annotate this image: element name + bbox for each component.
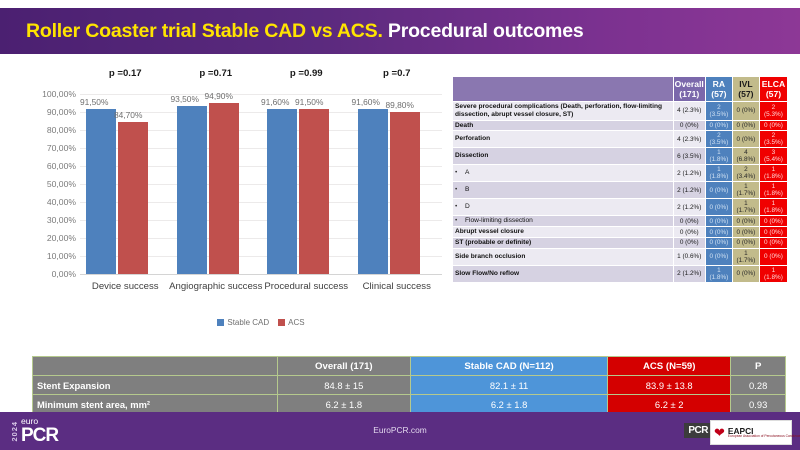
bullet-icon: • — [455, 217, 465, 225]
column-header-elca-line2: (57) — [761, 89, 786, 99]
table-row: Perforation4 (2.3%)2 (3.5%)0 (0%)2 (3.5%… — [453, 131, 788, 148]
column-header-overall: Overall (171) — [673, 77, 705, 102]
chart-bars-region: 91,50%84,70%93,50%94,90%91,60%91,50%91,6… — [80, 94, 442, 275]
cell-ivl: 0 (0%) — [732, 265, 759, 282]
cell-overall: 1 (0.6%) — [673, 248, 705, 265]
bar-group: 93,50%94,90% — [171, 94, 262, 274]
cell-overall: 4 (2.3%) — [673, 131, 705, 148]
footer-bar: 2024 euro PCR EuroPCR.com PCR ❤ EAPCI Eu… — [0, 412, 800, 450]
bar-group: 91,60%89,80% — [352, 94, 443, 274]
complications-table-body: Severe procedural complications (Death, … — [453, 102, 788, 283]
cell-elca: 0 (0%) — [759, 248, 787, 265]
chart-legend: Stable CADACS — [80, 318, 442, 327]
page-title-rest: Procedural outcomes — [383, 20, 584, 42]
bar-data-label: 91,50% — [295, 97, 323, 107]
cell-ra: 0 (0%) — [705, 182, 732, 199]
stent-column-header-blank — [33, 357, 278, 376]
table-row: •A2 (1.2%)1 (1.8%)2 (3.4%)1 (1.8%) — [453, 165, 788, 182]
column-header-overall-line2: (171) — [675, 89, 704, 99]
column-header-elca: ELCA (57) — [759, 77, 787, 102]
row-label: Perforation — [453, 131, 674, 148]
table-row: Dissection6 (3.5%)1 (1.8%)4 (6.8%)3 (5.4… — [453, 148, 788, 165]
column-header-elca-line1: ELCA — [761, 79, 786, 89]
table-row: •Flow-limiting dissection0 (0%)0 (0%)0 (… — [453, 216, 788, 227]
cell-ivl: 1 (1.7%) — [732, 248, 759, 265]
stent-cell-overall: 84.8 ± 15 — [277, 376, 410, 395]
row-label: ST (probable or definite) — [453, 237, 674, 248]
cell-elca: 0 (0%) — [759, 237, 787, 248]
cell-overall: 4 (2.3%) — [673, 102, 705, 121]
cell-ra: 2 (3.5%) — [705, 131, 732, 148]
y-axis-tick: 90,00% — [14, 107, 76, 117]
cell-ivl: 0 (0%) — [732, 120, 759, 131]
cell-overall: 0 (0%) — [673, 227, 705, 238]
cell-overall: 0 (0%) — [673, 120, 705, 131]
cell-ra: 1 (1.8%) — [705, 165, 732, 182]
stent-cell-overall: 6.2 ± 1.8 — [277, 395, 410, 414]
stent-table-body: Stent Expansion84.8 ± 1582.1 ± 1183.9 ± … — [33, 376, 786, 414]
pcr-badge: PCR — [684, 423, 712, 438]
bar-chart: 0,00%10,00%20,00%30,00%40,00%50,00%60,00… — [14, 66, 444, 346]
x-axis-label: Clinical success — [342, 280, 452, 293]
cell-ivl: 1 (1.7%) — [732, 182, 759, 199]
complications-table-head: Overall (171) RA (57) IVL (57) ELCA (57) — [453, 77, 788, 102]
bullet-icon: • — [455, 203, 465, 211]
column-header-overall-line1: Overall — [675, 79, 704, 89]
bar-acs — [299, 109, 329, 274]
bar-data-label: 91,60% — [352, 97, 380, 107]
bar-data-label: 91,60% — [261, 97, 289, 107]
cell-ivl: 0 (0%) — [732, 102, 759, 121]
bar-data-label: 93,50% — [171, 94, 199, 104]
cell-ra: 0 (0%) — [705, 248, 732, 265]
p-value-annotation: p =0.99 — [261, 68, 352, 79]
bar-data-label: 91,50% — [80, 97, 108, 107]
stent-column-header-p: P — [731, 357, 786, 376]
row-label: Severe procedural complications (Death, … — [453, 102, 674, 121]
row-label: •B — [453, 182, 674, 199]
stent-table: Overall (171) Stable CAD (N=112) ACS (N=… — [32, 356, 786, 414]
table-row: ST (probable or definite)0 (0%)0 (0%)0 (… — [453, 237, 788, 248]
y-axis-tick: 40,00% — [14, 197, 76, 207]
bar-group: 91,60%91,50% — [261, 94, 352, 274]
title-bar: Roller Coaster trial Stable CAD vs ACS. … — [0, 8, 800, 54]
legend-label: Stable CAD — [227, 318, 269, 327]
column-header-ivl-line1: IVL — [734, 79, 758, 89]
y-axis-tick: 70,00% — [14, 143, 76, 153]
column-header-ra: RA (57) — [705, 77, 732, 102]
stent-row-label: Minimum stent area, mm² — [33, 395, 278, 414]
table-row: Abrupt vessel closure0 (0%)0 (0%)0 (0%)0… — [453, 227, 788, 238]
legend-swatch — [278, 319, 285, 326]
stent-cell-acs: 6.2 ± 2 — [608, 395, 731, 414]
table-row: Side branch occlusion1 (0.6%)0 (0%)1 (1.… — [453, 248, 788, 265]
row-label: •A — [453, 165, 674, 182]
stent-cell-p: 0.93 — [731, 395, 786, 414]
y-axis-tick: 0,00% — [14, 269, 76, 279]
cell-ivl: 0 (0%) — [732, 237, 759, 248]
y-axis-tick: 30,00% — [14, 215, 76, 225]
bar-stable-cad — [177, 106, 207, 274]
y-axis-tick: 80,00% — [14, 125, 76, 135]
cell-overall: 2 (1.2%) — [673, 199, 705, 216]
cell-ivl: 0 (0%) — [732, 216, 759, 227]
bullet-icon: • — [455, 186, 465, 194]
row-label: Slow Flow/No reflow — [453, 265, 674, 282]
column-header-ivl: IVL (57) — [732, 77, 759, 102]
stent-cell-stable-cad: 6.2 ± 1.8 — [411, 395, 608, 414]
cell-ivl: 2 (3.4%) — [732, 165, 759, 182]
bar-data-label: 94,90% — [205, 91, 233, 101]
column-header-ra-line1: RA — [707, 79, 731, 89]
table-header-row: Overall (171) Stable CAD (N=112) ACS (N=… — [33, 357, 786, 376]
cell-ra: 0 (0%) — [705, 237, 732, 248]
cell-elca: 0 (0%) — [759, 216, 787, 227]
bar-stable-cad — [86, 109, 116, 274]
heart-icon: ❤ — [714, 426, 725, 439]
cell-ra: 1 (1.8%) — [705, 148, 732, 165]
page-title: Roller Coaster trial Stable CAD vs ACS. … — [26, 20, 583, 43]
column-header-ivl-line2: (57) — [734, 89, 758, 99]
bullet-icon: • — [455, 169, 465, 177]
cell-overall: 0 (0%) — [673, 237, 705, 248]
bar-acs — [118, 122, 148, 274]
cell-elca: 0 (0%) — [759, 120, 787, 131]
column-header-ra-line2: (57) — [707, 89, 731, 99]
cell-overall: 6 (3.5%) — [673, 148, 705, 165]
bar-data-label: 89,80% — [386, 100, 414, 110]
bar-group: 91,50%84,70% — [80, 94, 171, 274]
stent-table-head: Overall (171) Stable CAD (N=112) ACS (N=… — [33, 357, 786, 376]
cell-ivl: 0 (0%) — [732, 131, 759, 148]
row-label: Abrupt vessel closure — [453, 227, 674, 238]
cell-elca: 1 (1.8%) — [759, 165, 787, 182]
cell-elca: 3 (5.4%) — [759, 148, 787, 165]
stent-cell-acs: 83.9 ± 13.8 — [608, 376, 731, 395]
bar-acs — [390, 112, 420, 274]
legend-item: ACS — [278, 318, 304, 327]
cell-elca: 1 (1.8%) — [759, 265, 787, 282]
cell-ivl: 4 (6.8%) — [732, 148, 759, 165]
p-value-annotation: p =0.7 — [352, 68, 443, 79]
table-row: Slow Flow/No reflow2 (1.2%)1 (1.8%)0 (0%… — [453, 265, 788, 282]
table-header-row: Overall (171) RA (57) IVL (57) ELCA (57) — [453, 77, 788, 102]
p-value-annotation: p =0.17 — [80, 68, 171, 79]
footer-url: EuroPCR.com — [0, 425, 800, 435]
table-row: Death0 (0%)0 (0%)0 (0%)0 (0%) — [453, 120, 788, 131]
table-row: •B2 (1.2%)0 (0%)1 (1.7%)1 (1.8%) — [453, 182, 788, 199]
cell-ivl: 1 (1.7%) — [732, 199, 759, 216]
row-label: •Flow-limiting dissection — [453, 216, 674, 227]
eapci-logo: ❤ EAPCI European Association of Percutan… — [710, 420, 792, 445]
legend-swatch — [217, 319, 224, 326]
cell-overall: 0 (0%) — [673, 216, 705, 227]
bar-stable-cad — [358, 109, 388, 274]
p-value-annotation: p =0.71 — [171, 68, 262, 79]
y-axis-tick: 50,00% — [14, 179, 76, 189]
bar-stable-cad — [267, 109, 297, 274]
stent-cell-stable-cad: 82.1 ± 11 — [411, 376, 608, 395]
y-axis-tick: 60,00% — [14, 161, 76, 171]
cell-elca: 1 (1.8%) — [759, 199, 787, 216]
cell-overall: 2 (1.2%) — [673, 265, 705, 282]
table-row: Minimum stent area, mm²6.2 ± 1.86.2 ± 1.… — [33, 395, 786, 414]
cell-ra: 1 (1.8%) — [705, 265, 732, 282]
cell-ra: 0 (0%) — [705, 199, 732, 216]
stent-column-header-acs: ACS (N=59) — [608, 357, 731, 376]
cell-elca: 0 (0%) — [759, 227, 787, 238]
complications-table: Overall (171) RA (57) IVL (57) ELCA (57)… — [452, 76, 788, 283]
table-row: Stent Expansion84.8 ± 1582.1 ± 1183.9 ± … — [33, 376, 786, 395]
stent-row-label: Stent Expansion — [33, 376, 278, 395]
eapci-subtitle: European Association of Percutaneous Car… — [728, 435, 800, 438]
table-row: •D2 (1.2%)0 (0%)1 (1.7%)1 (1.8%) — [453, 199, 788, 216]
column-header-blank — [453, 77, 674, 102]
page-title-highlight: Roller Coaster trial Stable CAD vs ACS. — [26, 20, 383, 42]
eapci-text: EAPCI European Association of Percutaneo… — [728, 427, 800, 439]
y-axis-tick: 100,00% — [14, 89, 76, 99]
stent-column-header-overall: Overall (171) — [277, 357, 410, 376]
cell-overall: 2 (1.2%) — [673, 182, 705, 199]
cell-ra: 0 (0%) — [705, 120, 732, 131]
row-label: •D — [453, 199, 674, 216]
y-axis-ticks: 0,00%10,00%20,00%30,00%40,00%50,00%60,00… — [14, 66, 76, 311]
cell-ivl: 0 (0%) — [732, 227, 759, 238]
row-label: Side branch occlusion — [453, 248, 674, 265]
chart-plot-area: 0,00%10,00%20,00%30,00%40,00%50,00%60,00… — [14, 66, 444, 311]
cell-overall: 2 (1.2%) — [673, 165, 705, 182]
cell-ra: 2 (3.5%) — [705, 102, 732, 121]
y-axis-tick: 20,00% — [14, 233, 76, 243]
cell-ra: 0 (0%) — [705, 227, 732, 238]
cell-ra: 0 (0%) — [705, 216, 732, 227]
legend-label: ACS — [288, 318, 304, 327]
row-label: Dissection — [453, 148, 674, 165]
bar-acs — [209, 103, 239, 274]
y-axis-tick: 10,00% — [14, 251, 76, 261]
table-row: Severe procedural complications (Death, … — [453, 102, 788, 121]
row-label: Death — [453, 120, 674, 131]
cell-elca: 2 (3.5%) — [759, 131, 787, 148]
stent-cell-p: 0.28 — [731, 376, 786, 395]
bar-data-label: 84,70% — [114, 110, 142, 120]
cell-elca: 2 (5.3%) — [759, 102, 787, 121]
legend-item: Stable CAD — [217, 318, 269, 327]
cell-elca: 1 (1.8%) — [759, 182, 787, 199]
stent-column-header-stable-cad: Stable CAD (N=112) — [411, 357, 608, 376]
